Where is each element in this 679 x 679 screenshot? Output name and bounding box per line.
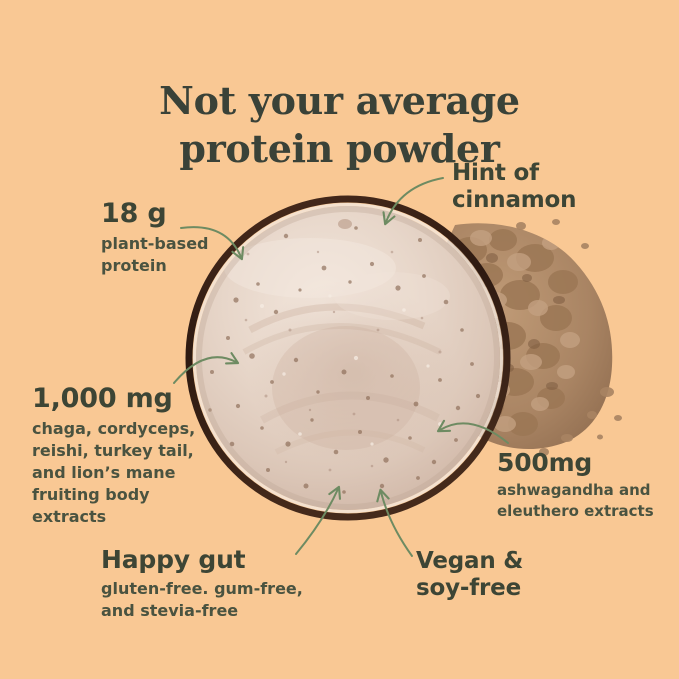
- callout-adaptogens-sub-line-1: ashwagandha and: [497, 480, 654, 501]
- callout-happy-gut-sub-line-1: gluten-free. gum-free,: [101, 578, 303, 600]
- callout-mushrooms-heading: 1,000 mg: [32, 384, 195, 414]
- callout-adaptogens-sub-line-2: eleuthero extracts: [497, 501, 654, 522]
- page-title: Not your average protein powder: [0, 77, 679, 172]
- callout-cinnamon: Hint of cinnamon: [452, 160, 576, 214]
- callout-cinnamon-line-2: cinnamon: [452, 187, 576, 214]
- callout-vegan-heading: Vegan & soy-free: [416, 548, 523, 602]
- callout-happy-gut: Happy gut gluten-free. gum-free, and ste…: [101, 545, 303, 622]
- callout-happy-gut-sub-line-2: and stevia-free: [101, 600, 303, 622]
- smoothie-bowl: [189, 199, 507, 517]
- callout-mushrooms-sub-line-3: and lion’s mane: [32, 462, 195, 484]
- callout-protein-sub-line-2: protein: [101, 255, 209, 277]
- callout-mushrooms-sub-line-5: extracts: [32, 506, 195, 528]
- headline-line-2: protein powder: [0, 125, 679, 173]
- callout-adaptogens: 500mg ashwagandha and eleuthero extracts: [497, 448, 654, 522]
- callout-mushrooms-sub-line-1: chaga, cordyceps,: [32, 418, 195, 440]
- callout-protein-heading: 18 g: [101, 199, 209, 229]
- callout-vegan-line-1: Vegan &: [416, 548, 523, 575]
- callout-vegan-line-2: soy-free: [416, 575, 523, 602]
- callout-adaptogens-subtext: ashwagandha and eleuthero extracts: [497, 480, 654, 522]
- headline-line-1: Not your average: [0, 77, 679, 125]
- callout-vegan: Vegan & soy-free: [416, 548, 523, 602]
- callout-mushrooms-sub-line-2: reishi, turkey tail,: [32, 440, 195, 462]
- callout-protein-subtext: plant-based protein: [101, 233, 209, 277]
- product-infographic: Not your average protein powder 18 g pla…: [0, 0, 679, 679]
- callout-mushrooms-sub-line-4: fruiting body: [32, 484, 195, 506]
- callout-cinnamon-line-1: Hint of: [452, 160, 576, 187]
- callout-adaptogens-heading: 500mg: [497, 448, 654, 477]
- callout-protein-sub-line-1: plant-based: [101, 233, 209, 255]
- callout-mushrooms-subtext: chaga, cordyceps, reishi, turkey tail, a…: [32, 418, 195, 528]
- callout-happy-gut-subtext: gluten-free. gum-free, and stevia-free: [101, 578, 303, 622]
- callout-mushrooms: 1,000 mg chaga, cordyceps, reishi, turke…: [32, 384, 195, 528]
- callout-cinnamon-heading: Hint of cinnamon: [452, 160, 576, 214]
- callout-happy-gut-heading: Happy gut: [101, 545, 303, 574]
- callout-protein: 18 g plant-based protein: [101, 199, 209, 277]
